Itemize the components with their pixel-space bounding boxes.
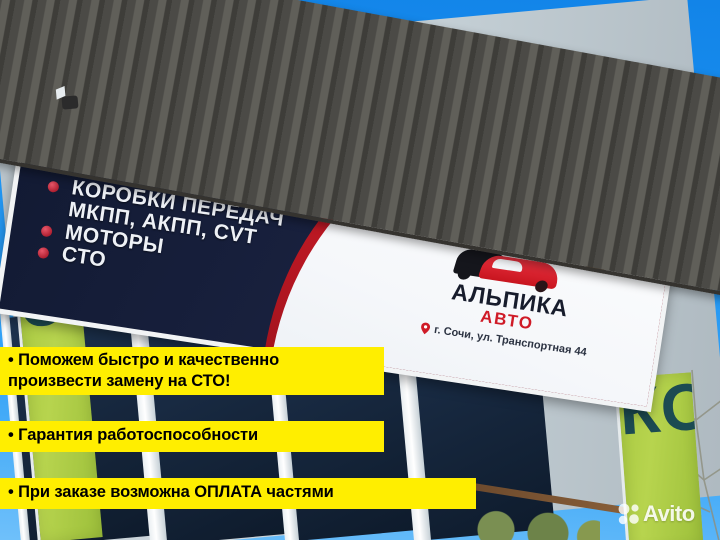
- ceiling-lamp: [61, 95, 78, 109]
- screenshot-root: СТО КОР КОНТРАКТНЫЕ ЗАПЧАСТИ КОРОБК: [0, 0, 720, 540]
- overlay-banner-3-line-1: • При заказе возможна ОПЛАТА частями: [8, 483, 470, 502]
- bushes: [470, 508, 600, 540]
- bullet-dot-icon: [47, 180, 60, 193]
- bullet-dot-icon: [40, 224, 53, 237]
- overlay-banner-2: • Гарантия работоспособности: [0, 421, 384, 452]
- avito-dots-icon: [618, 503, 640, 525]
- overlay-banner-1-line-2: произвести замену на СТО!: [8, 371, 378, 392]
- overlay-banner-1-line-1: • Поможем быстро и качественно: [8, 350, 378, 371]
- overlay-banner-3: • При заказе возможна ОПЛАТА частями: [0, 478, 476, 509]
- overlay-banner-1: • Поможем быстро и качественно произвест…: [0, 347, 384, 395]
- bullet-dot-icon: [37, 246, 50, 259]
- overlay-banner-2-line-1: • Гарантия работоспособности: [8, 426, 378, 445]
- avito-watermark: Avito: [618, 503, 695, 525]
- avito-watermark-text: Avito: [643, 503, 695, 525]
- location-pin-icon: [420, 322, 431, 335]
